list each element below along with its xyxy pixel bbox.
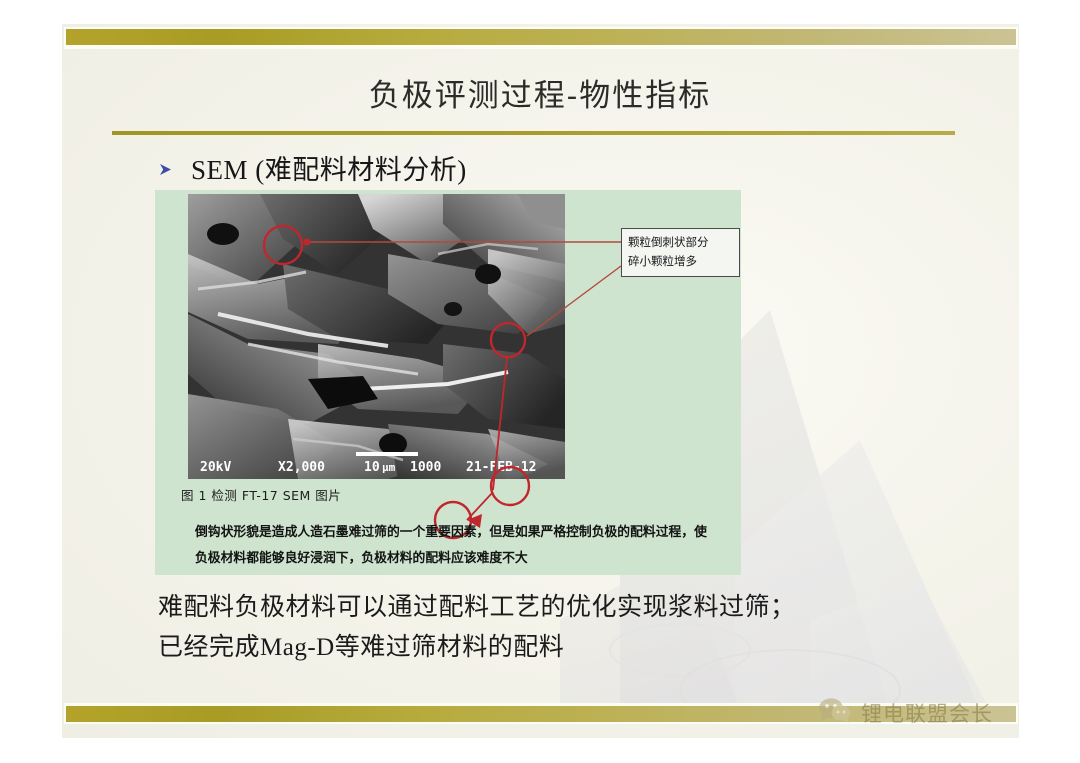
svg-text:X2,000: X2,000 xyxy=(278,460,325,475)
watermark: 锂电联盟会长 xyxy=(818,697,993,728)
paragraph-line-1: 倒钩状形貌是造成人造石墨难过筛的一个重要因素，但是如果严格控制负极的配料过程，使 xyxy=(195,520,705,546)
arrow-bullet-icon xyxy=(158,161,175,178)
watermark-label: 锂电联盟会长 xyxy=(861,698,993,728)
content-panel: 20kV X2,000 10 µm 1000 21-FEB-12 xyxy=(155,190,741,575)
bullet-label: SEM (难配料材料分析) xyxy=(191,148,467,187)
svg-text:21-FEB-12: 21-FEB-12 xyxy=(466,460,536,475)
callout-line-1: 颗粒倒刺状部分 xyxy=(628,233,734,252)
title-divider-rule xyxy=(112,131,955,135)
figure-caption: 图 1 检测 FT-17 SEM 图片 xyxy=(181,485,341,504)
svg-text:10: 10 xyxy=(364,460,380,475)
svg-text:20kV: 20kV xyxy=(200,460,231,475)
conclusion-block: 难配料负极材料可以通过配料工艺的优化实现浆料过筛； 已经完成Mag-D等难过筛材… xyxy=(158,588,796,668)
sem-micrograph: 20kV X2,000 10 µm 1000 21-FEB-12 xyxy=(188,194,565,479)
svg-text:µm: µm xyxy=(382,461,396,474)
slide-canvas: 负极评测过程-物性指标 SEM (难配料材料分析) xyxy=(0,0,1080,763)
conclusion-line-2: 已经完成Mag-D等难过筛材料的配料 xyxy=(158,628,796,668)
wechat-icon xyxy=(818,697,852,728)
svg-text:1000: 1000 xyxy=(410,460,441,475)
slide-title: 负极评测过程-物性指标 xyxy=(0,70,1080,115)
top-bar-sheen xyxy=(64,46,1018,49)
paragraph-line-2: 负极材料都能够良好浸润下，负极材料的配料应该难度不大 xyxy=(195,546,705,572)
top-gold-bar xyxy=(66,29,1016,45)
callout-line-2: 碎小颗粒增多 xyxy=(628,252,734,271)
bullet-row: SEM (难配料材料分析) xyxy=(158,148,467,187)
annotation-callout-box: 颗粒倒刺状部分 碎小颗粒增多 xyxy=(621,228,740,277)
conclusion-line-1: 难配料负极材料可以通过配料工艺的优化实现浆料过筛； xyxy=(158,588,796,628)
figure-paragraph: 倒钩状形貌是造成人造石墨难过筛的一个重要因素，但是如果严格控制负极的配料过程，使… xyxy=(195,520,705,572)
